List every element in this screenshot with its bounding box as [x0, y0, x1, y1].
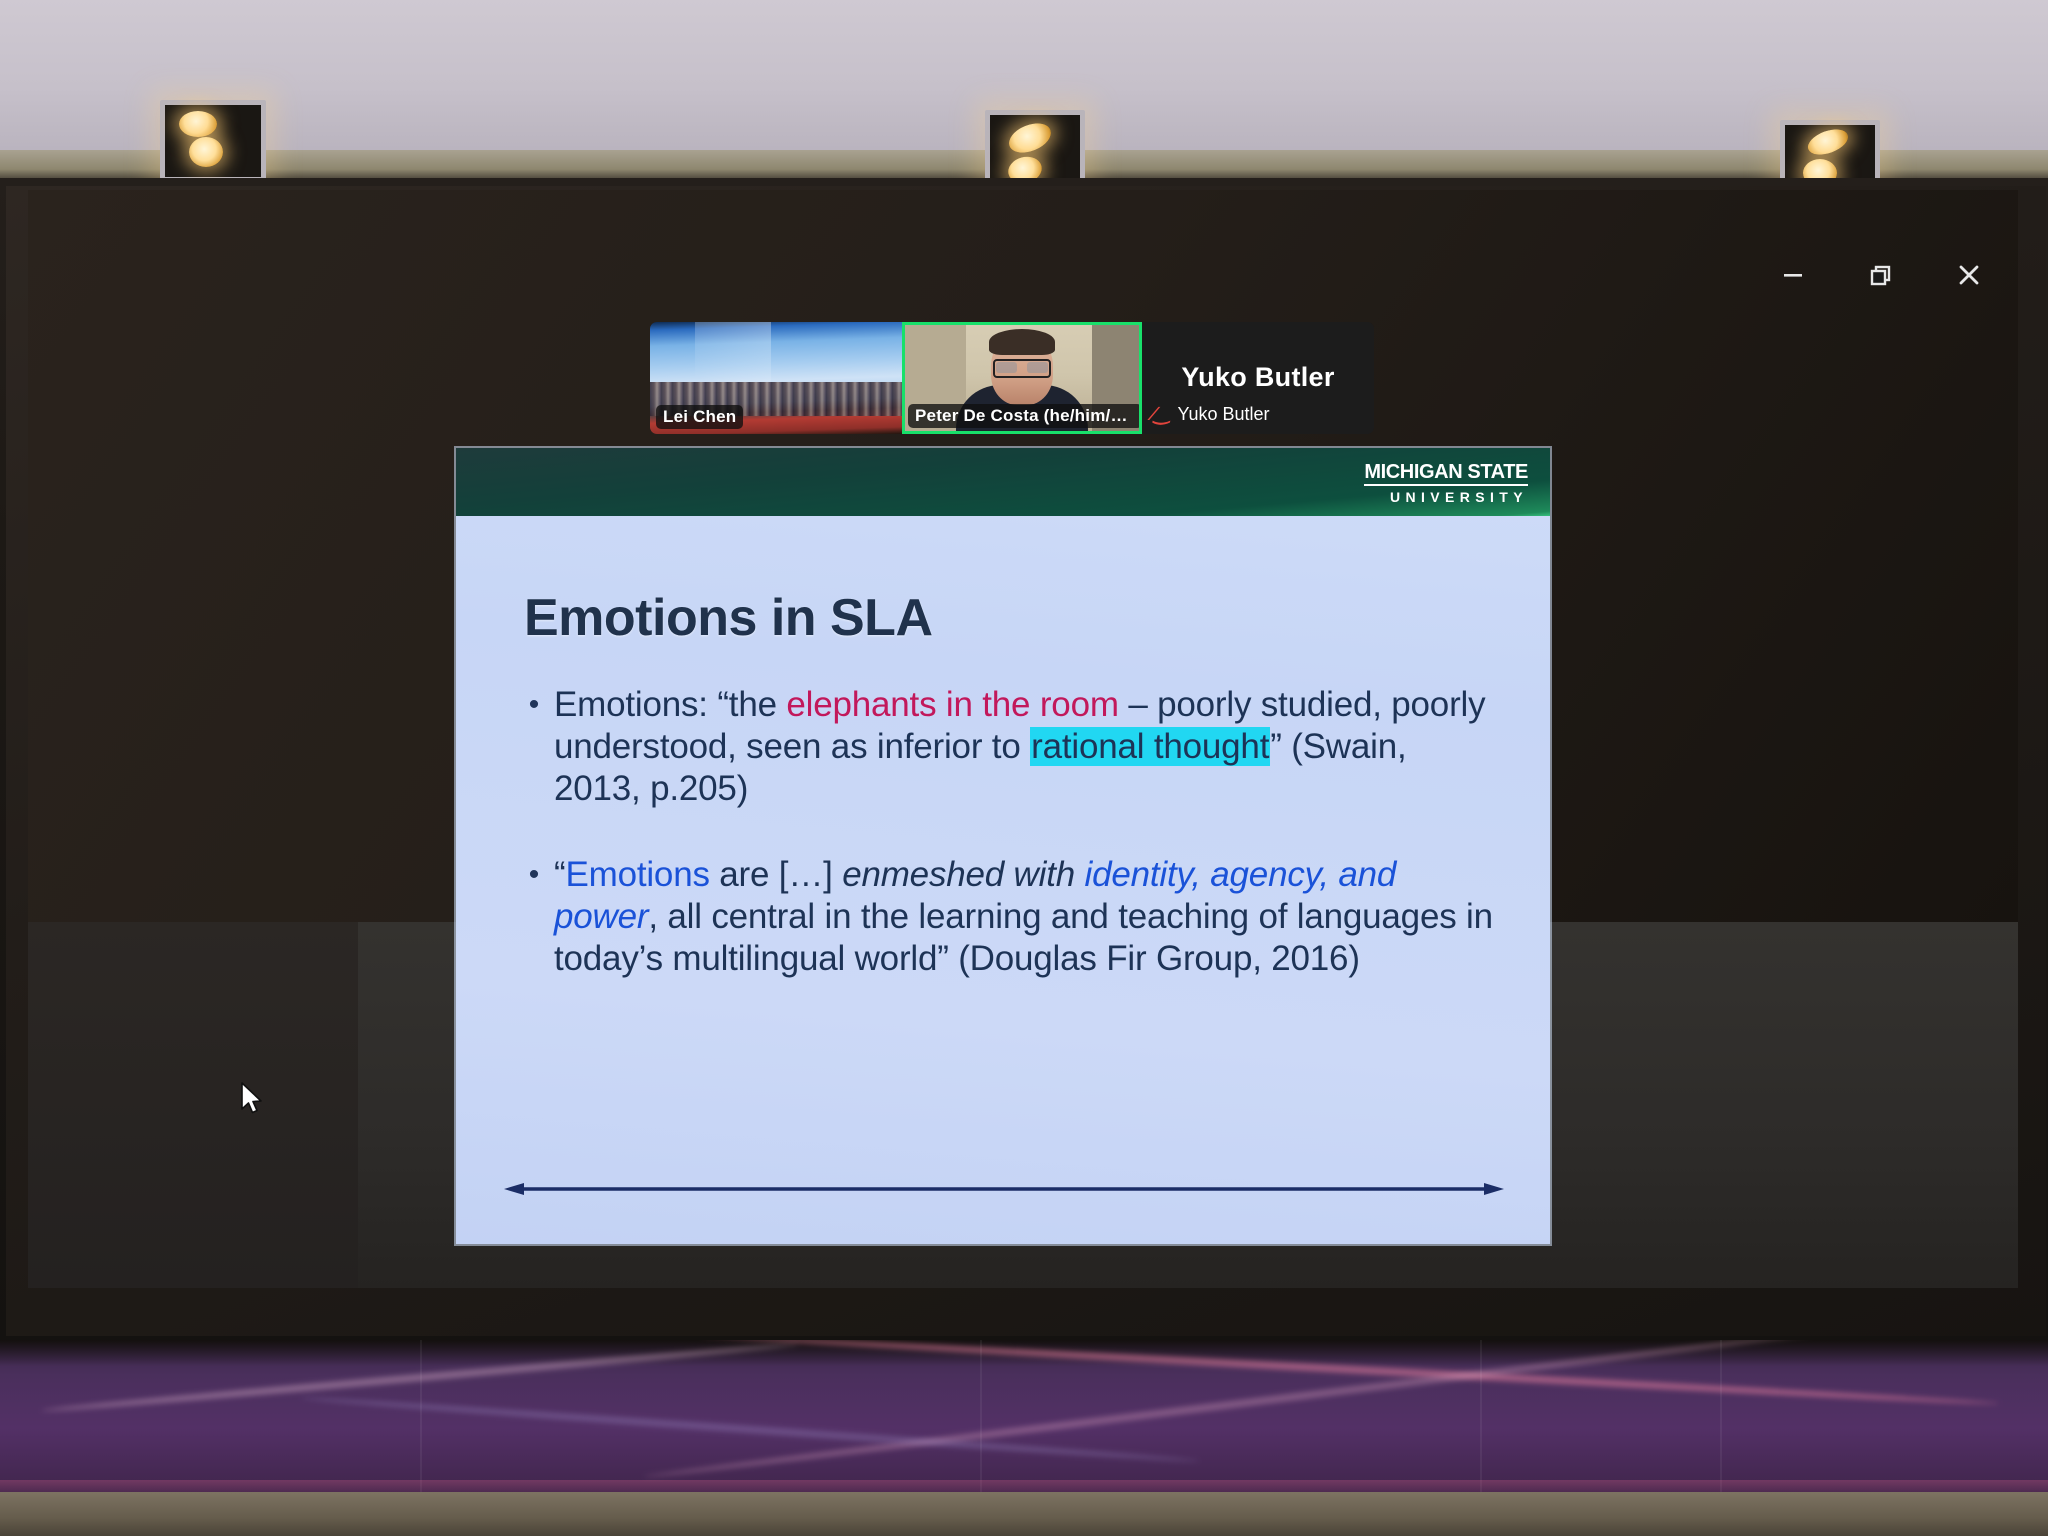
window-controls	[1776, 258, 1986, 292]
bullet-text: “Emotions are […] enmeshed with identity…	[554, 854, 1494, 980]
participant-display-name: Yuko Butler	[1142, 362, 1374, 393]
bullet-segment: are […]	[710, 855, 842, 894]
curtain-fold	[1720, 1340, 1722, 1500]
participant-tile-peter-de-costa[interactable]: Peter De Costa (he/him/hi…	[902, 322, 1142, 434]
bullet-segment-highlight-cyan: rational thought	[1030, 727, 1270, 766]
zoom-participant-strip: Lei Chen Peter De Costa (he/him/hi… Yuko…	[650, 322, 1374, 434]
curtain-fold	[980, 1340, 982, 1500]
bullet-marker: •	[514, 854, 554, 980]
participant-name-label: Yuko Butler	[1177, 404, 1269, 425]
bullet-segment: Emotions: “the	[554, 685, 786, 724]
bullet-segment: , all central in the learning and teachi…	[554, 897, 1493, 978]
bullet-text: Emotions: “the elephants in the room – p…	[554, 684, 1494, 810]
slide-body: • Emotions: “the elephants in the room –…	[514, 684, 1494, 1024]
participant-tile-lei-chen[interactable]: Lei Chen	[650, 322, 902, 434]
muted-microphone-icon: ∕‿	[1150, 403, 1173, 426]
restore-icon[interactable]	[1864, 258, 1898, 292]
stage-floor	[0, 1492, 2048, 1536]
double-headed-arrow	[504, 1182, 1504, 1196]
light-streak	[301, 1395, 1199, 1465]
bullet-segment-italic: enmeshed with	[842, 855, 1084, 894]
msu-logo-line1: MICHIGAN STATE	[1364, 462, 1528, 486]
participant-name-row: ∕‿ Yuko Butler	[1152, 403, 1270, 426]
person-glasses	[993, 359, 1051, 378]
person-hair	[989, 329, 1055, 355]
close-icon[interactable]	[1952, 258, 1986, 292]
bullet-marker: •	[514, 684, 554, 810]
desktop-wallpaper-lower-left	[28, 922, 358, 1288]
curtain-fold	[1480, 1340, 1482, 1500]
minimize-icon[interactable]	[1776, 258, 1810, 292]
ceiling-light-1	[160, 100, 266, 182]
participant-name-label: Peter De Costa (he/him/hi…	[908, 404, 1142, 428]
bullet-segment-emphasis-blue: Emotions	[565, 855, 709, 894]
bullet-item: • “Emotions are […] enmeshed with identi…	[514, 854, 1494, 980]
participant-name-label: Lei Chen	[656, 405, 743, 429]
stage-backdrop-curtain	[0, 1340, 2048, 1536]
participant-tile-yuko-butler[interactable]: Yuko Butler ∕‿ Yuko Butler	[1142, 322, 1374, 434]
slide-header-band: MICHIGAN STATE UNIVERSITY	[456, 448, 1550, 516]
curtain-fold	[420, 1340, 422, 1500]
conference-room-scene: Lei Chen Peter De Costa (he/him/hi… Yuko…	[0, 0, 2048, 1536]
msu-logo: MICHIGAN STATE UNIVERSITY	[1364, 462, 1528, 504]
bullet-segment: “	[554, 855, 565, 894]
bullet-segment-emphasis-pink: elephants in the room	[786, 685, 1118, 724]
slide-title: Emotions in SLA	[524, 588, 933, 648]
mouse-cursor	[240, 1082, 266, 1116]
msu-logo-line2: UNIVERSITY	[1364, 490, 1528, 504]
bullet-item: • Emotions: “the elephants in the room –…	[514, 684, 1494, 810]
presentation-slide[interactable]: MICHIGAN STATE UNIVERSITY Emotions in SL…	[456, 448, 1550, 1244]
